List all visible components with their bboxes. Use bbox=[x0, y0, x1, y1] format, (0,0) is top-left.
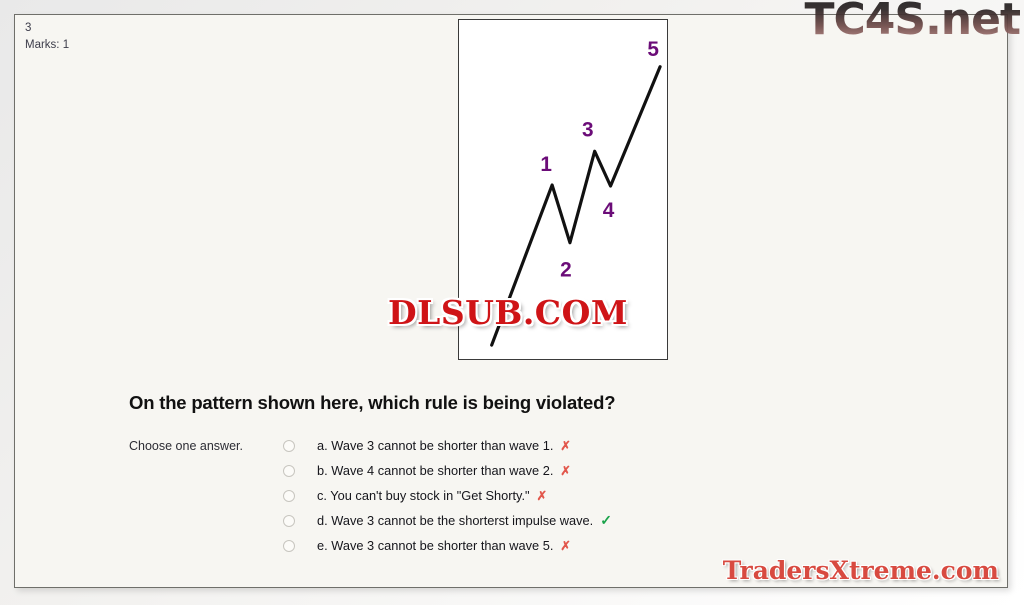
answer-option-row[interactable]: b. Wave 4 cannot be shorter than wave 2.… bbox=[283, 458, 923, 483]
answer-option-label: b. Wave 4 cannot be shorter than wave 2. bbox=[317, 463, 553, 478]
correct-check-icon: ✓ bbox=[600, 512, 612, 529]
answer-option-row[interactable]: d. Wave 3 cannot be the shorterst impuls… bbox=[283, 508, 923, 533]
answer-option-label: c. You can't buy stock in "Get Shorty." bbox=[317, 488, 530, 503]
answer-radio-button[interactable] bbox=[283, 540, 295, 552]
answer-option-label: a. Wave 3 cannot be shorter than wave 1. bbox=[317, 438, 553, 453]
wave-label-5: 5 bbox=[647, 38, 659, 61]
answer-radio-button[interactable] bbox=[283, 440, 295, 452]
answer-options-list: a. Wave 3 cannot be shorter than wave 1.… bbox=[283, 433, 923, 558]
answer-radio-button[interactable] bbox=[283, 515, 295, 527]
quiz-question-panel: 3 Marks: 1 12345 DLSUB.COM On the patter… bbox=[14, 14, 1008, 588]
incorrect-cross-icon: ✗ bbox=[560, 438, 570, 453]
incorrect-cross-icon: ✗ bbox=[560, 463, 570, 478]
answer-radio-button[interactable] bbox=[283, 465, 295, 477]
answer-option-row[interactable]: a. Wave 3 cannot be shorter than wave 1.… bbox=[283, 433, 923, 458]
wave-label-1: 1 bbox=[540, 153, 552, 176]
watermark-tradersxtreme: TradersXtreme.com bbox=[723, 556, 999, 585]
question-number: 3 bbox=[25, 20, 69, 37]
answer-option-label: e. Wave 3 cannot be shorter than wave 5. bbox=[317, 538, 553, 553]
watermark-dlsub: DLSUB.COM bbox=[388, 293, 628, 332]
incorrect-cross-icon: ✗ bbox=[560, 538, 570, 553]
answer-option-row[interactable]: c. You can't buy stock in "Get Shorty."✗ bbox=[283, 483, 923, 508]
wave-label-4: 4 bbox=[603, 199, 615, 222]
answer-option-label: d. Wave 3 cannot be the shorterst impuls… bbox=[317, 513, 593, 528]
question-meta: 3 Marks: 1 bbox=[25, 20, 69, 54]
wave-label-3: 3 bbox=[582, 118, 594, 141]
question-title: On the pattern shown here, which rule is… bbox=[129, 392, 615, 414]
answer-option-row[interactable]: e. Wave 3 cannot be shorter than wave 5.… bbox=[283, 533, 923, 558]
choose-one-answer-label: Choose one answer. bbox=[129, 439, 243, 453]
incorrect-cross-icon: ✗ bbox=[537, 488, 547, 503]
watermark-tc4s: TC4S.net bbox=[804, 0, 1020, 45]
wave-label-2: 2 bbox=[560, 258, 572, 281]
answer-radio-button[interactable] bbox=[283, 490, 295, 502]
question-marks: Marks: 1 bbox=[25, 37, 69, 54]
